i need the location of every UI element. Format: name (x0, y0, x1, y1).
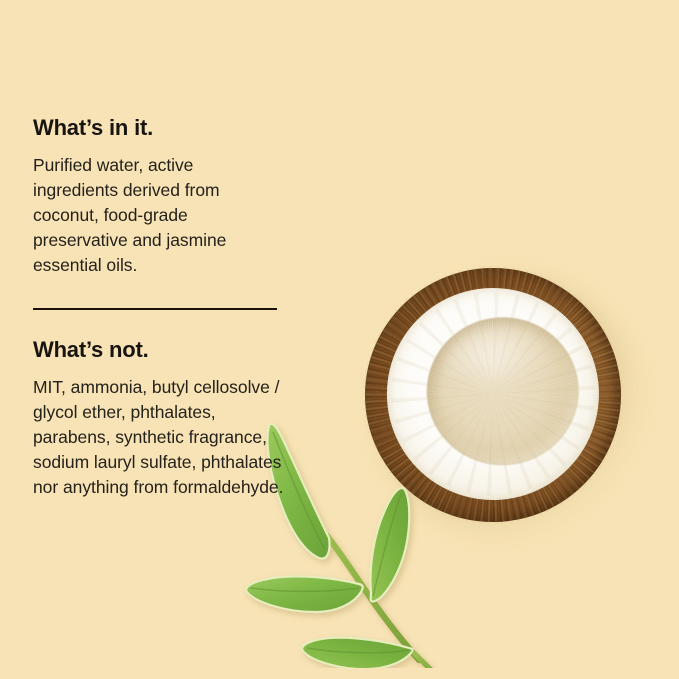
section-2-body: MIT, ammonia, butyl cellosolve / glycol … (33, 375, 288, 499)
leaf-left-middle (246, 576, 363, 612)
section-1-body: Purified water, active ingredients deriv… (33, 153, 283, 277)
section-divider (33, 308, 277, 310)
section-whats-not: What’s not. MIT, ammonia, butyl cellosol… (33, 338, 288, 499)
coconut-highlight (434, 314, 549, 392)
product-ingredient-panel: What’s in it. Purified water, active ing… (0, 0, 679, 679)
section-2-heading: What’s not. (33, 338, 288, 362)
section-whats-in-it: What’s in it. Purified water, active ing… (33, 116, 283, 277)
leaf-stem-tip (415, 654, 441, 668)
section-1-heading: What’s in it. (33, 116, 283, 140)
